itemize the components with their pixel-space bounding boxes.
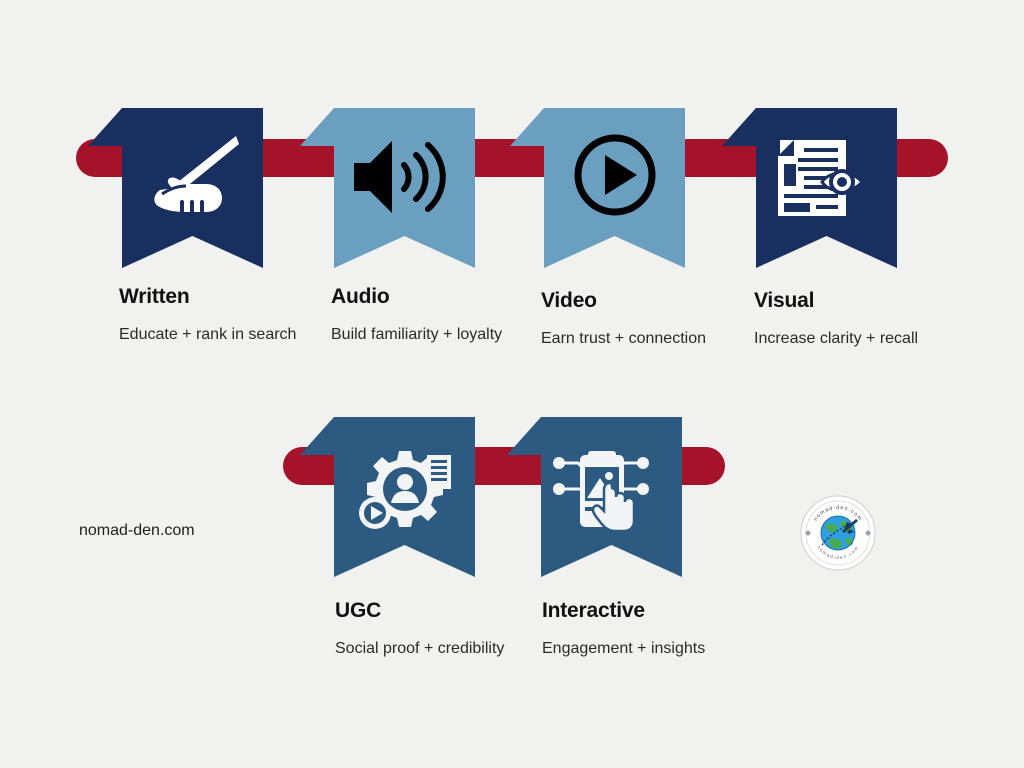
banner-body-interactive bbox=[541, 417, 682, 577]
card-desc-video: Earn trust + connection bbox=[541, 326, 721, 352]
banner-fold-video bbox=[510, 108, 542, 144]
card-desc-written: Educate + rank in search bbox=[119, 322, 299, 348]
banner-fold-audio bbox=[300, 108, 332, 144]
card-text-visual: Visual Increase clarity + recall bbox=[754, 289, 934, 352]
card-text-audio: Audio Build familiarity + loyalty bbox=[331, 285, 511, 348]
banner-fold-visual bbox=[722, 108, 754, 144]
banner-interactive[interactable] bbox=[507, 417, 683, 577]
card-title-interactive: Interactive bbox=[542, 599, 732, 623]
banner-body-audio bbox=[334, 108, 475, 268]
banner-video[interactable] bbox=[510, 108, 686, 268]
card-text-written: Written Educate + rank in search bbox=[119, 285, 299, 348]
banner-body-ugc bbox=[334, 417, 475, 577]
card-title-written: Written bbox=[119, 285, 299, 309]
card-text-video: Video Earn trust + connection bbox=[541, 289, 721, 352]
banner-body-visual bbox=[756, 108, 897, 268]
banner-body-written bbox=[122, 108, 263, 268]
card-desc-interactive: Engagement + insights bbox=[542, 636, 732, 662]
globe-airplane-badge-logo: nomad-den.com nomad-den.com bbox=[800, 495, 876, 571]
site-url-text: nomad-den.com bbox=[79, 522, 195, 540]
banner-fold-ugc bbox=[300, 417, 332, 453]
banner-ugc[interactable] bbox=[300, 417, 476, 577]
card-desc-audio: Build familiarity + loyalty bbox=[331, 322, 511, 348]
banner-visual[interactable] bbox=[722, 108, 898, 268]
card-title-ugc: UGC bbox=[335, 599, 515, 623]
card-title-visual: Visual bbox=[754, 289, 934, 313]
banner-written[interactable] bbox=[88, 108, 264, 268]
card-title-video: Video bbox=[541, 289, 721, 313]
banner-body-video bbox=[544, 108, 685, 268]
banner-fold-written bbox=[88, 108, 120, 144]
infographic-canvas: Written Educate + rank in search bbox=[0, 0, 1024, 768]
card-text-interactive: Interactive Engagement + insights bbox=[542, 599, 732, 662]
card-desc-visual: Increase clarity + recall bbox=[754, 326, 934, 352]
card-desc-ugc: Social proof + credibility bbox=[335, 636, 515, 662]
banner-audio[interactable] bbox=[300, 108, 476, 268]
card-title-audio: Audio bbox=[331, 285, 511, 309]
banner-fold-interactive bbox=[507, 417, 539, 453]
card-text-ugc: UGC Social proof + credibility bbox=[335, 599, 515, 662]
